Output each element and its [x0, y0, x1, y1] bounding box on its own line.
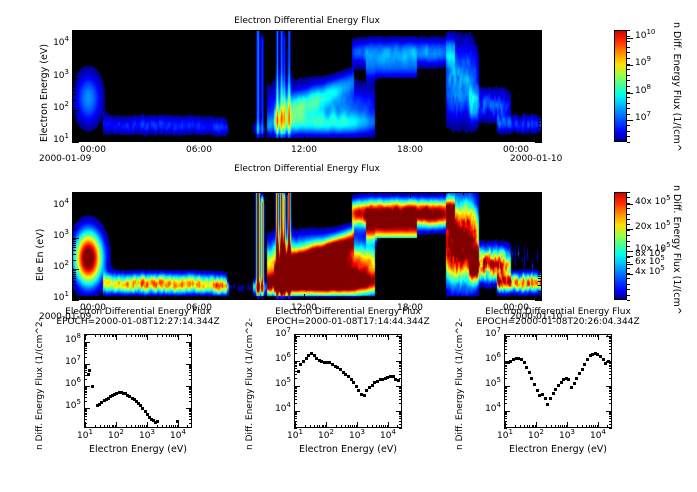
colorbar-tick-minor [627, 47, 630, 48]
xtick-minor [181, 30, 182, 33]
ytick-minor [84, 394, 87, 395]
xtick-minor [216, 139, 217, 142]
xtick-minor [336, 334, 337, 337]
xtick-minor [607, 425, 608, 428]
ytick-minor [504, 414, 507, 415]
xtick-minor [135, 334, 136, 337]
ytick-minor [538, 281, 542, 282]
ytick-minor [84, 346, 87, 347]
ytick-minor [189, 389, 192, 390]
xtick-minor [445, 192, 446, 195]
top-colorbar[interactable] [614, 30, 627, 142]
xtick-major [536, 422, 537, 428]
xtick-minor [146, 334, 147, 337]
xtick-minor [340, 139, 341, 142]
xtick-minor [566, 425, 567, 428]
xtick-minor [341, 334, 342, 337]
xtick-minor [173, 425, 174, 428]
data-point [355, 385, 358, 388]
ytick-minor [504, 403, 507, 404]
xtick-minor [181, 192, 182, 195]
xtick-minor [175, 334, 176, 337]
xtick-minor [533, 139, 534, 142]
ytick-minor [399, 391, 402, 392]
colorbar-tick-minor [627, 103, 630, 104]
ytick-minor [399, 393, 402, 394]
ytick-minor [609, 337, 612, 338]
ytick-minor [504, 393, 507, 394]
spectrum-1-plot-area[interactable] [84, 334, 192, 428]
colorbar-tick-minor [627, 203, 630, 204]
middle-spectrogram[interactable] [72, 192, 542, 300]
ytick-minor [72, 55, 76, 56]
xtick-minor [372, 425, 373, 428]
ytick-minor [72, 120, 76, 121]
ytick-minor [504, 371, 507, 372]
ytick-minor [538, 113, 542, 114]
xtick-minor [392, 30, 393, 33]
ytick-minor [538, 85, 542, 86]
xtick-minor [595, 334, 596, 337]
xtick-minor [131, 425, 132, 428]
xtick-minor [504, 334, 505, 337]
data-point [536, 389, 539, 392]
xtick-minor [352, 334, 353, 337]
ytick-minor [538, 241, 542, 242]
ytick-label: 107 [54, 357, 81, 367]
ytick-minor [72, 111, 76, 112]
ytick-minor [504, 374, 507, 375]
data-point [602, 358, 605, 361]
ytick-minor [72, 83, 76, 84]
xtick-major [567, 422, 568, 428]
ytick-minor [538, 239, 542, 240]
xtick-minor [379, 425, 380, 428]
xtick-minor [577, 334, 578, 337]
xtick-minor [546, 425, 547, 428]
spectrum-3-plot-area[interactable] [504, 334, 612, 428]
xtick-major [295, 422, 296, 428]
ytick-minor [504, 416, 507, 417]
xtick-minor [564, 425, 565, 428]
xtick-minor [140, 334, 141, 337]
ytick-minor [538, 229, 542, 230]
ytick-minor [189, 388, 192, 389]
ytick-minor [189, 411, 192, 412]
data-point [305, 357, 308, 360]
xtick-minor [375, 192, 376, 195]
xtick-minor [480, 139, 481, 142]
data-point [352, 381, 355, 384]
ytick-label: 104 [42, 200, 69, 210]
ytick-label: 106 [474, 354, 501, 364]
xtick-minor [322, 192, 323, 195]
ytick-minor [399, 362, 402, 363]
ytick-major [72, 300, 79, 301]
ytick-minor [399, 424, 402, 425]
xtick-minor [113, 425, 114, 428]
xtick-minor [589, 425, 590, 428]
xtick-minor [560, 334, 561, 337]
xtick-minor [577, 425, 578, 428]
ytick-minor [294, 390, 297, 391]
xtick-minor [463, 30, 464, 33]
data-point [363, 394, 366, 397]
ytick-minor [538, 254, 542, 255]
ytick-minor [189, 416, 192, 417]
xtick-minor [527, 334, 528, 337]
xtick-minor [397, 425, 398, 428]
xtick-minor [533, 425, 534, 428]
ytick-minor [609, 388, 612, 389]
ytick-minor [609, 396, 612, 397]
ytick-minor [399, 387, 402, 388]
ytick-label: 104 [474, 404, 501, 414]
xtick-minor [340, 30, 341, 33]
ytick-minor [609, 371, 612, 372]
top-panel-title: Electron Differential Energy Flux [72, 16, 542, 26]
top-spectrogram[interactable] [72, 30, 542, 142]
data-point [544, 397, 547, 400]
ytick-minor [72, 87, 76, 88]
xtick-major [85, 422, 86, 428]
middle-colorbar[interactable] [614, 192, 627, 300]
ytick-minor [399, 366, 402, 367]
xtick-minor [340, 192, 341, 195]
ytick-minor [538, 111, 542, 112]
ytick-minor [72, 49, 76, 50]
xtick-minor [345, 334, 346, 337]
ytick-minor [504, 396, 507, 397]
ytick-minor [189, 353, 192, 354]
ytick-minor [538, 123, 542, 124]
spectrum-1-ylabel-group: n Diff. Energy Flux (1/(cm^2- [24, 334, 38, 428]
xtick-minor [128, 139, 129, 142]
colorbar-tick-minor [627, 125, 630, 126]
ytick-minor [609, 365, 612, 366]
ytick-minor [189, 344, 192, 345]
colorbar-tick-minor [627, 114, 630, 115]
xtick-minor [177, 334, 178, 337]
xtick-minor [356, 425, 357, 428]
spectrum-3-ylabel-group: n Diff. Energy Flux (1/(cm^2- [444, 334, 458, 428]
colorbar-tick-minor [627, 64, 630, 65]
ytick-minor [294, 391, 297, 392]
ytick-minor [538, 276, 542, 277]
xtick-major [357, 422, 358, 428]
data-point [176, 420, 179, 423]
ytick-minor [72, 276, 76, 277]
ytick-minor [538, 30, 542, 31]
ytick-minor [189, 366, 192, 367]
xtick-minor [551, 334, 552, 337]
colorbar-tick-minor [627, 108, 630, 109]
xtick-minor [356, 334, 357, 337]
ytick-minor [609, 366, 612, 367]
ytick-minor [72, 247, 76, 248]
colorbar-tick-minor [627, 300, 630, 301]
xtick-minor [317, 334, 318, 337]
ytick-minor [609, 424, 612, 425]
xtick-minor [234, 30, 235, 33]
xtick-minor [354, 425, 355, 428]
data-point [549, 397, 552, 400]
data-point [546, 403, 549, 406]
xtick-minor [144, 334, 145, 337]
xtick-major [598, 422, 599, 428]
data-point [525, 366, 528, 369]
ytick-minor [538, 53, 542, 54]
data-point [528, 371, 531, 374]
xtick-major [567, 334, 568, 340]
xtick-minor [551, 425, 552, 428]
spectrum-2-plot-area[interactable] [294, 334, 402, 428]
xtick-minor [480, 192, 481, 195]
xtick-minor [166, 334, 167, 337]
xtick-minor [199, 30, 200, 33]
ytick-minor [189, 387, 192, 388]
xtick-minor [128, 30, 129, 33]
xtick-minor [93, 192, 94, 195]
xtick-minor [199, 297, 200, 300]
ytick-minor [294, 366, 297, 367]
ytick-minor [609, 390, 612, 391]
xtick-minor [319, 334, 320, 337]
ytick-minor [399, 374, 402, 375]
xtick-minor [357, 297, 358, 300]
xtick-minor [325, 334, 326, 337]
colorbar-tick-minor [627, 214, 630, 215]
ytick-minor [538, 94, 542, 95]
ytick-minor [294, 340, 297, 341]
ytick-minor [538, 50, 542, 51]
ytick-minor [294, 341, 297, 342]
ytick-minor [399, 416, 402, 417]
xtick-minor [146, 297, 147, 300]
xtick-minor [162, 334, 163, 337]
ytick-minor [609, 387, 612, 388]
ytick-minor [84, 368, 87, 369]
colorbar-tick-label: 108 [635, 86, 651, 96]
ytick-minor [504, 349, 507, 350]
ytick-minor [189, 346, 192, 347]
xtick-minor [546, 334, 547, 337]
xtick-label: 103 [551, 431, 583, 441]
xtick-minor [269, 139, 270, 142]
xtick-minor [340, 297, 341, 300]
ytick-minor [538, 223, 542, 224]
xtick-minor [410, 192, 411, 195]
ytick-minor [189, 419, 192, 420]
xtick-minor [607, 334, 608, 337]
xtick-minor [187, 334, 188, 337]
xtick-minor [84, 425, 85, 428]
colorbar-tick-minor [627, 257, 630, 258]
ytick-minor [538, 247, 542, 248]
ytick-minor [189, 368, 192, 369]
colorbar-tick-minor [627, 246, 630, 247]
spectrum-2-xlabel: Electron Energy (eV) [259, 444, 437, 455]
ytick-minor [538, 214, 542, 215]
ytick-minor [399, 353, 402, 354]
ytick-minor [609, 399, 612, 400]
colorbar-tick-minor [627, 295, 630, 296]
xtick-minor [529, 334, 530, 337]
xtick-minor [100, 334, 101, 337]
ytick-minor [72, 100, 76, 101]
ytick-minor [72, 58, 76, 59]
ytick-minor [399, 412, 402, 413]
xtick-minor [597, 425, 598, 428]
ytick-minor [72, 254, 76, 255]
colorbar-tick-minor [627, 131, 630, 132]
colorbar-tick-minor [627, 241, 630, 242]
xtick-minor [480, 30, 481, 33]
xtick-minor [164, 192, 165, 195]
colorbar-tick-label: 109 [635, 58, 651, 68]
data-point [581, 368, 584, 371]
ytick-minor [72, 274, 76, 275]
ytick-major [72, 142, 79, 143]
ytick-minor [399, 363, 402, 364]
xtick-minor [357, 30, 358, 33]
ytick-minor [72, 270, 76, 271]
ytick-minor [84, 419, 87, 420]
ytick-minor [609, 378, 612, 379]
colorbar-tick [627, 65, 633, 66]
xtick-minor [410, 297, 411, 300]
colorbar-tick-minor [627, 235, 630, 236]
ytick-minor [189, 414, 192, 415]
ytick-minor [294, 393, 297, 394]
ytick-minor [538, 285, 542, 286]
colorbar-tick-label: 107 [635, 113, 651, 123]
xtick-minor [586, 334, 587, 337]
xtick-minor [445, 30, 446, 33]
ytick-minor [538, 79, 542, 80]
ytick-minor [399, 337, 402, 338]
colorbar-tick-label: 40x 105 [635, 197, 671, 207]
ytick-minor [189, 348, 192, 349]
ytick-minor [72, 79, 76, 80]
ytick-minor [538, 132, 542, 133]
data-point [91, 385, 94, 388]
ytick-minor [399, 388, 402, 389]
ytick-label: 107 [474, 329, 501, 339]
ytick-minor [609, 416, 612, 417]
ytick-minor [189, 423, 192, 424]
xtick-minor [383, 425, 384, 428]
colorbar-tick-minor [627, 69, 630, 70]
ytick-minor [609, 374, 612, 375]
ytick-minor [504, 387, 507, 388]
data-point [87, 373, 90, 376]
data-point [583, 363, 586, 366]
xtick-minor [269, 192, 270, 195]
data-point [302, 360, 305, 363]
xtick-minor [304, 139, 305, 142]
ytick-minor [504, 390, 507, 391]
ytick-minor [294, 399, 297, 400]
xtick-minor [157, 425, 158, 428]
xtick-minor [115, 425, 116, 428]
colorbar-tick-minor [627, 136, 630, 137]
xtick-major [178, 334, 179, 340]
ytick-minor [189, 413, 192, 414]
ytick-minor [538, 219, 542, 220]
xtick-minor [126, 425, 127, 428]
ytick-minor [399, 421, 402, 422]
ytick-minor [609, 338, 612, 339]
xtick-label: 102 [100, 431, 132, 441]
xtick-minor [591, 334, 592, 337]
colorbar-tick-minor [627, 268, 630, 269]
colorbar-tick-minor [627, 273, 630, 274]
ytick-minor [609, 346, 612, 347]
colorbar-tick-minor [627, 97, 630, 98]
xtick-minor [287, 192, 288, 195]
xtick-minor [350, 334, 351, 337]
top-panel-date-left: 2000-01-09 [39, 154, 91, 164]
xtick-minor [142, 334, 143, 337]
ytick-minor [538, 250, 542, 251]
colorbar-tick-minor [627, 30, 630, 31]
ytick-minor [538, 120, 542, 121]
ytick-minor [504, 366, 507, 367]
colorbar-tick-minor [627, 262, 630, 263]
ytick-minor [72, 198, 76, 199]
ytick-minor [189, 365, 192, 366]
ytick-minor [72, 53, 76, 54]
xtick-minor [323, 334, 324, 337]
xtick-minor [95, 425, 96, 428]
ytick-minor [294, 414, 297, 415]
xtick-minor [372, 334, 373, 337]
xtick-minor [252, 192, 253, 195]
colorbar-tick-minor [627, 278, 630, 279]
xtick-minor [555, 425, 556, 428]
ytick-minor [609, 353, 612, 354]
ytick-minor [72, 272, 76, 273]
ytick-minor [189, 357, 192, 358]
xtick-minor [93, 30, 94, 33]
xtick-major [536, 334, 537, 340]
xtick-minor [352, 425, 353, 428]
xtick-minor [140, 425, 141, 428]
data-point [541, 393, 544, 396]
xtick-minor [269, 297, 270, 300]
data-point [530, 377, 533, 380]
spectrum-2-ylabel: n Diff. Energy Flux (1/(cm^2- [245, 318, 255, 450]
xtick-minor [146, 425, 147, 428]
ytick-minor [294, 362, 297, 363]
xtick-minor [428, 139, 429, 142]
xtick-minor [379, 334, 380, 337]
data-point [586, 358, 589, 361]
ytick-label: 105 [474, 379, 501, 389]
xtick-minor [367, 334, 368, 337]
data-point [599, 355, 602, 358]
xtick-minor [595, 425, 596, 428]
xtick-minor [524, 425, 525, 428]
xtick-minor [593, 334, 594, 337]
xtick-minor [164, 30, 165, 33]
colorbar-tick-label: 1010 [635, 31, 655, 41]
colorbar-tick-minor [627, 192, 630, 193]
ytick-minor [609, 418, 612, 419]
xtick-major [147, 422, 148, 428]
ytick-minor [399, 368, 402, 369]
